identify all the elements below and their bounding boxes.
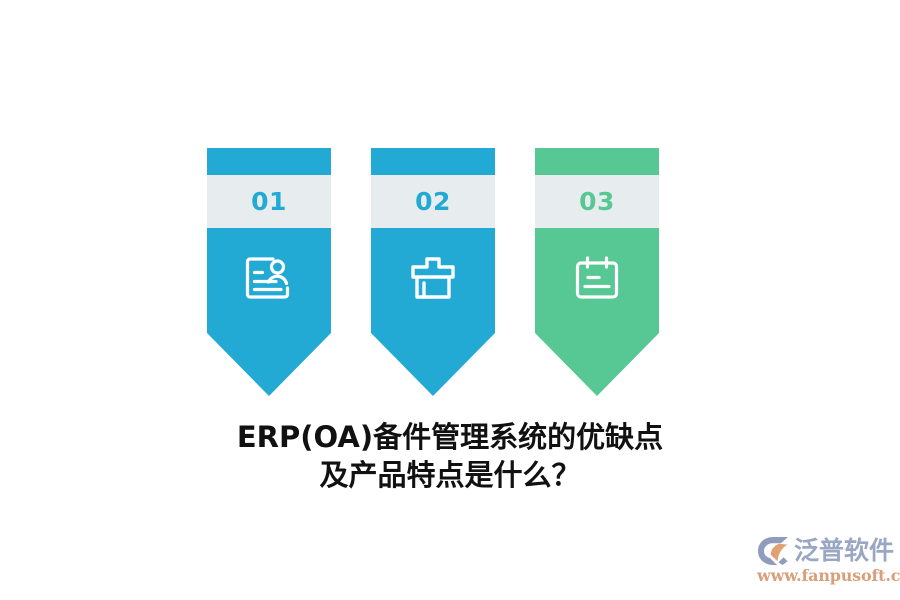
banner-head bbox=[207, 148, 331, 175]
banner-number-label: 02 bbox=[415, 189, 451, 214]
banner-number-plate: 02 bbox=[371, 175, 495, 228]
banner-card-03[interactable]: 03 bbox=[535, 148, 659, 396]
banner-number-label: 01 bbox=[251, 189, 287, 214]
id-card-contact-icon bbox=[241, 250, 297, 306]
poster-canvas: 01 bbox=[0, 0, 900, 600]
brand-watermark: 泛普软件 www.fanpusoft.com bbox=[757, 534, 897, 590]
brand-name: 泛普软件 bbox=[794, 536, 894, 566]
page-title-line-2: 及产品特点是什么？ bbox=[0, 456, 900, 494]
banner-body bbox=[371, 228, 495, 396]
brand-url: www.fanpusoft.com bbox=[757, 567, 897, 585]
banner-number-label: 03 bbox=[579, 189, 615, 214]
banner-head bbox=[371, 148, 495, 175]
banner-body bbox=[207, 228, 331, 396]
notepad-calendar-icon bbox=[569, 250, 625, 306]
banner-number-plate: 01 bbox=[207, 175, 331, 228]
banner-card-01[interactable]: 01 bbox=[207, 148, 331, 396]
page-title-line-1: ERP(OA)备件管理系统的优缺点 bbox=[0, 418, 900, 456]
banner-card-02[interactable]: 02 bbox=[371, 148, 495, 396]
page-title: ERP(OA)备件管理系统的优缺点 及产品特点是什么？ bbox=[0, 418, 900, 494]
banner-head bbox=[535, 148, 659, 175]
brand-lockup: 泛普软件 bbox=[757, 534, 897, 568]
banner-number-plate: 03 bbox=[535, 175, 659, 228]
fanpu-logo-icon bbox=[757, 536, 791, 566]
storefront-icon bbox=[405, 250, 461, 306]
banner-body bbox=[535, 228, 659, 396]
banner-row: 01 bbox=[0, 148, 900, 398]
